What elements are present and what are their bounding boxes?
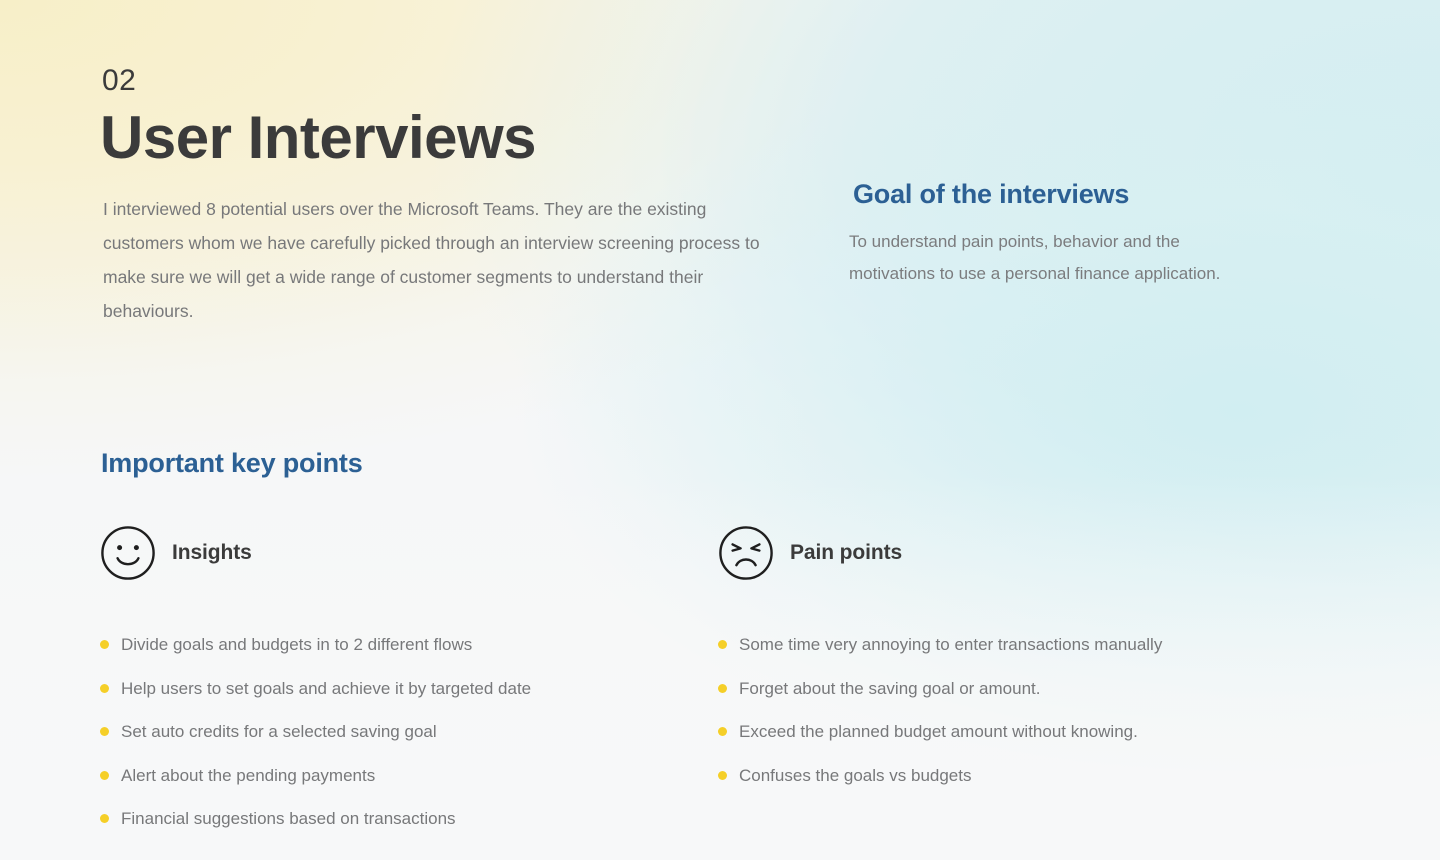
insights-column: Insights Divide goals and budgets in to …: [100, 524, 718, 850]
insights-list: Divide goals and budgets in to 2 differe…: [100, 632, 718, 831]
list-item-text: Help users to set goals and achieve it b…: [121, 676, 531, 701]
bullet-dot-icon: [100, 727, 109, 736]
bullet-dot-icon: [718, 684, 727, 693]
bullet-dot-icon: [718, 771, 727, 780]
list-item-text: Set auto credits for a selected saving g…: [121, 719, 437, 744]
list-item-text: Alert about the pending payments: [121, 763, 375, 788]
list-item-text: Forget about the saving goal or amount.: [739, 676, 1040, 701]
goal-block: Goal of the interviews To understand pai…: [849, 178, 1249, 290]
pain-points-column: Pain points Some time very annoying to e…: [718, 524, 1358, 850]
frowning-squint-face-icon: [718, 525, 774, 581]
bullet-dot-icon: [718, 640, 727, 649]
list-item: Forget about the saving goal or amount.: [718, 676, 1358, 701]
list-item: Alert about the pending payments: [100, 763, 718, 788]
list-item-text: Financial suggestions based on transacti…: [121, 806, 456, 831]
goal-text: To understand pain points, behavior and …: [849, 226, 1234, 290]
list-item-text: Confuses the goals vs budgets: [739, 763, 971, 788]
bullet-dot-icon: [100, 814, 109, 823]
key-points-title: Important key points: [101, 447, 363, 479]
list-item: Financial suggestions based on transacti…: [100, 806, 718, 831]
slide-canvas: 02 User Interviews I interviewed 8 poten…: [0, 0, 1440, 860]
bullet-dot-icon: [100, 771, 109, 780]
list-item-text: Some time very annoying to enter transac…: [739, 632, 1162, 657]
pain-points-header: Pain points: [718, 524, 1358, 582]
pain-points-label: Pain points: [790, 541, 902, 565]
key-points-columns: Insights Divide goals and budgets in to …: [100, 524, 1360, 850]
list-item: Set auto credits for a selected saving g…: [100, 719, 718, 744]
list-item-text: Divide goals and budgets in to 2 differe…: [121, 632, 472, 657]
list-item: Help users to set goals and achieve it b…: [100, 676, 718, 701]
page-title: User Interviews: [100, 104, 536, 171]
bullet-dot-icon: [100, 640, 109, 649]
list-item: Divide goals and budgets in to 2 differe…: [100, 632, 718, 657]
list-item: Some time very annoying to enter transac…: [718, 632, 1358, 657]
bullet-dot-icon: [100, 684, 109, 693]
slide-content: 02 User Interviews I interviewed 8 poten…: [0, 0, 1440, 860]
list-item: Exceed the planned budget amount without…: [718, 719, 1358, 744]
insights-label: Insights: [172, 541, 252, 565]
insights-header: Insights: [100, 524, 718, 582]
goal-title: Goal of the interviews: [853, 178, 1249, 210]
intro-paragraph: I interviewed 8 potential users over the…: [103, 192, 763, 328]
list-item: Confuses the goals vs budgets: [718, 763, 1358, 788]
section-number: 02: [102, 66, 136, 96]
bullet-dot-icon: [718, 727, 727, 736]
pain-points-list: Some time very annoying to enter transac…: [718, 632, 1358, 788]
list-item-text: Exceed the planned budget amount without…: [739, 719, 1138, 744]
smiley-face-icon: [100, 525, 156, 581]
